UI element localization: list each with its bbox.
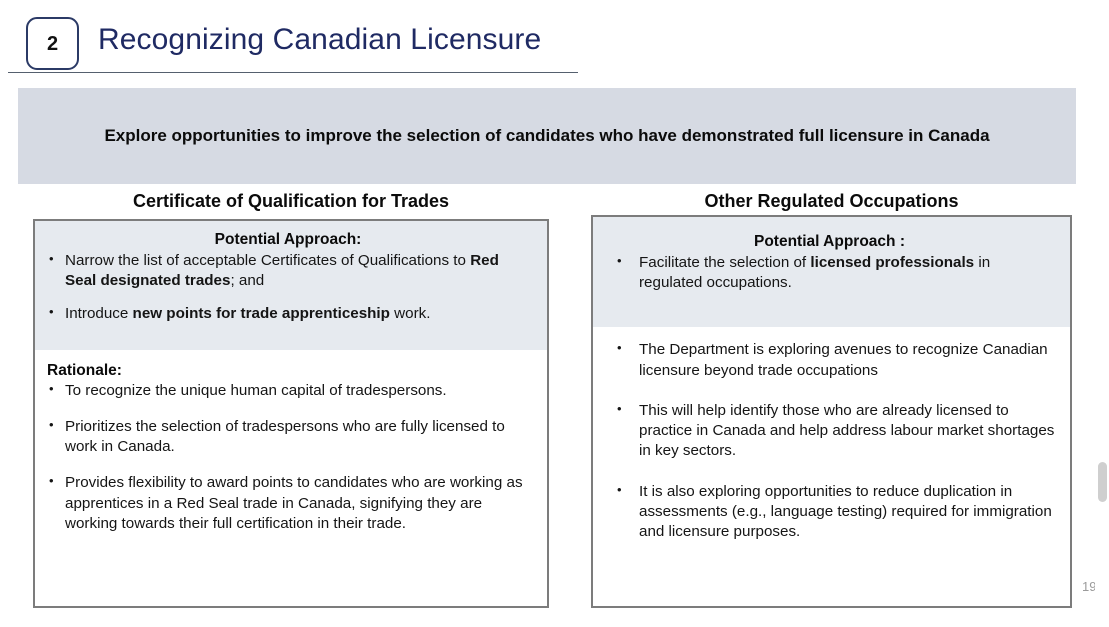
approach-bullets-right: Facilitate the selection of licensed pro…	[603, 253, 1056, 293]
content-box-trades: Potential Approach: Narrow the list of a…	[33, 219, 549, 608]
bullet-item: Facilitate the selection of licensed pro…	[603, 253, 1056, 293]
scrollbar-thumb[interactable]	[1098, 462, 1107, 502]
slide-header: 2 Recognizing Canadian Licensure	[0, 0, 1109, 80]
page-title: Recognizing Canadian Licensure	[98, 23, 541, 57]
rationale-section-left: Rationale: To recognize the unique human…	[35, 350, 547, 544]
body-bullets-right: The Department is exploring avenues to r…	[603, 340, 1056, 542]
approach-bullets-left: Narrow the list of acceptable Certificat…	[43, 251, 533, 325]
content-box-occupations: Potential Approach : Facilitate the sele…	[591, 215, 1072, 608]
column-heading-right: Other Regulated Occupations	[591, 191, 1072, 212]
bullet-item: To recognize the unique human capital of…	[43, 381, 533, 401]
banner-text: Explore opportunities to improve the sel…	[84, 123, 1009, 149]
approach-section-left: Potential Approach: Narrow the list of a…	[35, 221, 547, 350]
body-section-right: The Department is exploring avenues to r…	[593, 327, 1070, 572]
bullet-item: This will help identify those who are al…	[603, 401, 1056, 462]
header-divider	[8, 72, 578, 73]
bullet-item: Prioritizes the selection of tradesperso…	[43, 417, 533, 457]
section-number: 2	[47, 34, 58, 54]
bullet-item: The Department is exploring avenues to r…	[603, 340, 1056, 380]
column-heading-left: Certificate of Qualification for Trades	[33, 191, 549, 212]
bullet-item: It is also exploring opportunities to re…	[603, 482, 1056, 543]
bullet-item: Provides flexibility to award points to …	[43, 473, 533, 534]
approach-title-left: Potential Approach:	[43, 231, 533, 249]
section-number-box: 2	[26, 17, 79, 70]
approach-section-right: Potential Approach : Facilitate the sele…	[593, 217, 1070, 327]
scrollbar-track[interactable]	[1095, 0, 1109, 627]
rationale-label: Rationale:	[47, 362, 533, 380]
rationale-bullets-left: To recognize the unique human capital of…	[43, 381, 533, 534]
banner: Explore opportunities to improve the sel…	[18, 88, 1076, 184]
bullet-item: Introduce new points for trade apprentic…	[43, 304, 533, 324]
bullet-item: Narrow the list of acceptable Certificat…	[43, 251, 533, 291]
approach-title-right: Potential Approach :	[603, 233, 1056, 251]
